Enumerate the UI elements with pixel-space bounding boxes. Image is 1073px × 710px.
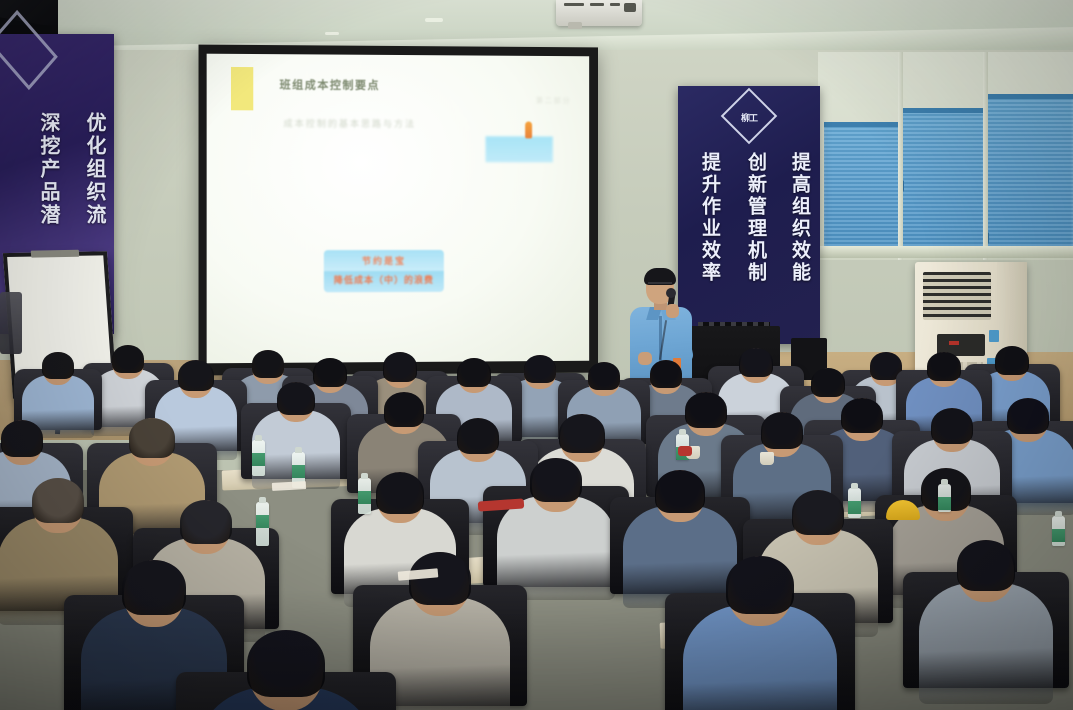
conference-room-photo: 优化组织流 深挖产品潜 柳工 提高组织效能 创新管理机制 提升作业效率 班组成本… [0,0,1073,710]
company-logo-text: 柳工 [729,100,769,134]
audience-member-hair [129,418,175,458]
audience-member-hair [655,470,705,513]
paper-cup[interactable] [760,452,774,465]
window-sill [818,246,1073,258]
audience-member-hair [32,478,85,523]
audience-member-hair [42,352,73,379]
audience-member-hair [384,392,424,427]
projection-screen-frame: 班组成本控制要点 成本控制的基本思路与方法 第二部分 节约是宝 降低成本（中）的… [199,45,598,376]
window-mullion [983,52,988,260]
slide-callout-line-2: 降低成本（中）的浪费 [324,273,444,286]
audience-member-hair [252,350,285,378]
audience-member-hair [957,540,1016,591]
banner-right-column-1: 提高组织效能 [787,152,814,284]
window-mullion [898,52,903,260]
slide-title: 班组成本控制要点 [280,76,380,93]
slide-subtitle: 成本控制的基本思路与方法 [284,117,416,131]
banner-left-column-2: 深挖产品潜 [35,112,64,227]
water-bottle[interactable] [358,478,371,514]
banner-right-column-2: 创新管理机制 [743,152,770,284]
slide-accent-bar [231,67,253,110]
blind-headrail [900,108,984,113]
audience-member-hair [112,345,145,373]
audience-member-hair [180,500,231,544]
water-bottle[interactable] [848,488,861,518]
ac-sticker [989,330,999,342]
audience-member [683,556,837,710]
audience-member-hair [739,348,773,377]
audience-member-hair [811,368,845,397]
presenter-hand [666,304,679,318]
audience-member-hair [530,458,581,502]
audience-member-hair [1,420,44,457]
ac-vent-grille-icon [923,272,991,320]
audience-member-hair [841,398,882,433]
slide-illustration [486,136,553,162]
slide-corner-note: 第二部分 [536,96,571,106]
audience-member [197,630,375,710]
audience-member-hair [650,360,683,388]
audience-member-hair [761,412,804,449]
slide-figure-icon [525,121,532,138]
microphone-head-icon [666,288,676,298]
water-bottle[interactable] [1052,516,1065,546]
window-blind-1[interactable] [824,122,902,250]
audience-member-hair [277,382,316,415]
ceiling-light [325,32,339,35]
side-equipment [0,292,22,354]
projector-lens [568,22,582,29]
water-bottle[interactable] [256,502,269,546]
audience-member-hair [685,392,727,428]
audience-member-hair [457,358,491,387]
water-bottle[interactable] [252,440,265,476]
projection-screen-surface: 班组成本控制要点 成本控制的基本思路与方法 第二部分 节约是宝 降低成本（中）的… [207,54,590,364]
presenter-glasses-icon [648,282,672,287]
slide-callout-banner: 节约是宝 降低成本（中）的浪费 [324,250,444,292]
audience-member-hair [178,360,214,391]
audience-member-hair [1007,398,1049,434]
audience-member-hair [457,418,499,454]
audience-member-hair [931,408,973,444]
audience-member-hair [376,472,425,514]
banner-right-column-3: 提升作业效率 [697,152,724,284]
audience-member [919,540,1053,710]
audience-member-hair [927,352,961,381]
audience-member-hair [995,346,1029,375]
audience-member-hair [588,362,621,390]
blind-headrail [824,122,902,127]
audience-member-hair [247,630,325,697]
audience-member-hair [792,490,845,535]
screen-glow [207,54,590,364]
window-blind-3[interactable] [986,94,1073,250]
audience-member-hair [726,556,793,614]
blind-headrail [986,94,1073,99]
ac-led-indicator [949,341,959,345]
ceiling-light [425,18,443,22]
window-blind-2[interactable] [900,108,984,250]
slide-callout-line-1: 节约是宝 [324,254,444,267]
audience-member-hair [524,355,557,383]
banner-left-column-1: 优化组织流 [81,112,110,227]
audience-member-hair [383,352,417,382]
water-bottle[interactable] [938,484,951,512]
flipchart-clip [31,250,80,258]
audience-member-hair [122,560,186,615]
audience-member-hair [559,414,604,453]
red-item [678,446,692,456]
